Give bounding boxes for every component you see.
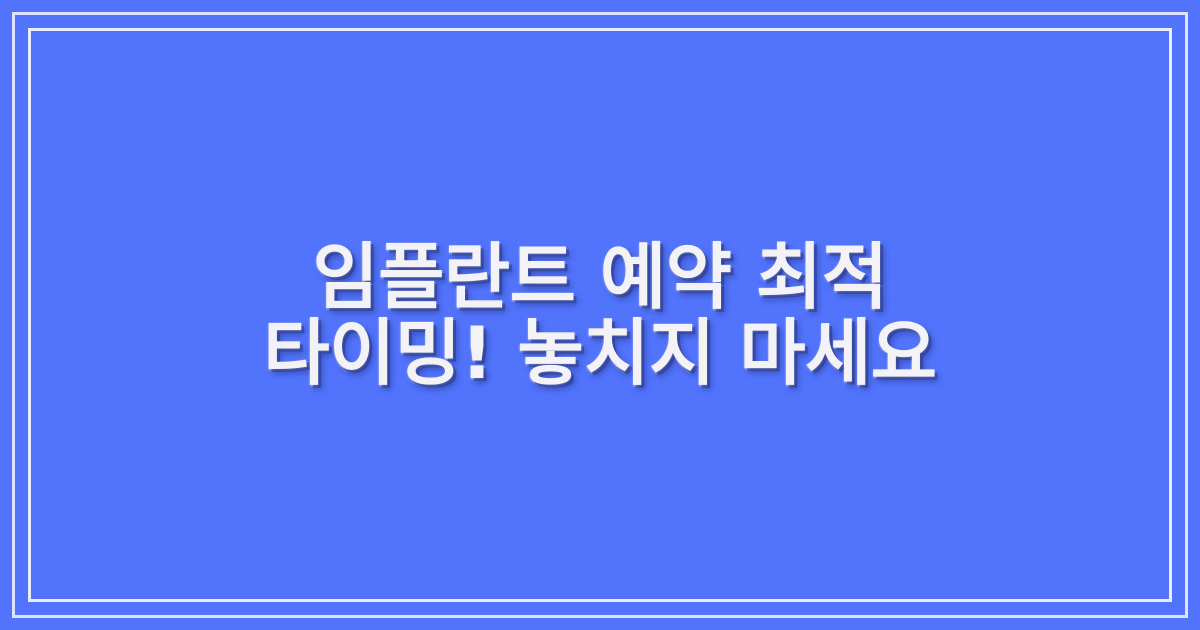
promo-banner: 임플란트 예약 최적 타이밍! 놓치지 마세요 [0,0,1200,630]
banner-headline: 임플란트 예약 최적 타이밍! 놓치지 마세요 [263,239,936,391]
headline-container: 임플란트 예약 최적 타이밍! 놓치지 마세요 [0,0,1200,630]
headline-line-1: 임플란트 예약 최적 [263,239,936,315]
headline-line-2: 타이밍! 놓치지 마세요 [263,315,936,391]
